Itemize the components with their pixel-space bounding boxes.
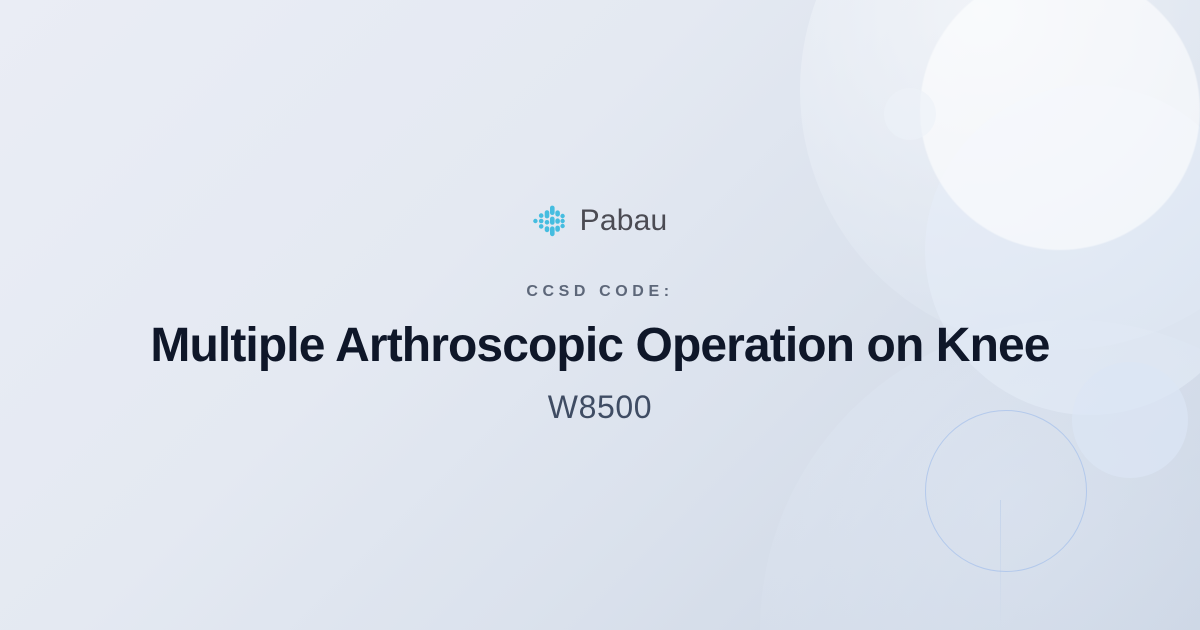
card-content: Pabau CCSD CODE: Multiple Arthroscopic O… xyxy=(0,0,1200,630)
page-title: Multiple Arthroscopic Operation on Knee xyxy=(150,319,1049,374)
pabau-logo-icon xyxy=(533,203,567,239)
pabau-logo-lockup: Pabau xyxy=(533,203,668,239)
ccsd-code-value: W8500 xyxy=(548,388,652,426)
pabau-wordmark: Pabau xyxy=(580,206,668,236)
og-card: Pabau CCSD CODE: Multiple Arthroscopic O… xyxy=(0,0,1200,630)
eyebrow-label: CCSD CODE: xyxy=(526,283,673,301)
